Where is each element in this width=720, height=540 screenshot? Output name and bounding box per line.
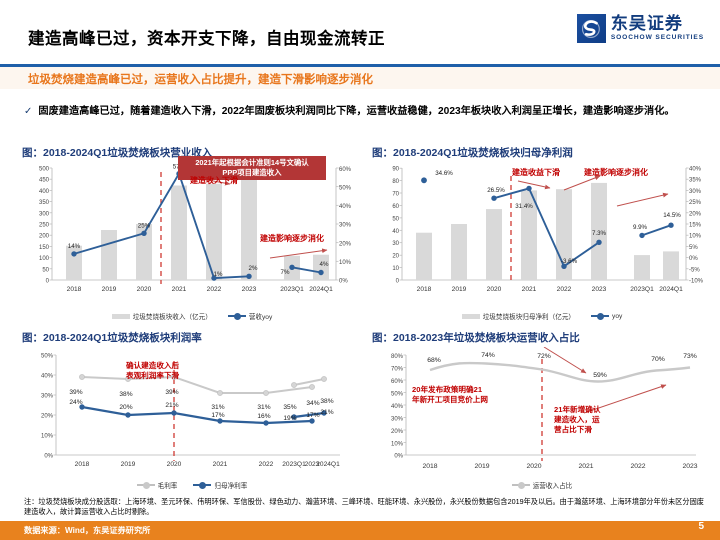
- svg-text:90: 90: [392, 167, 399, 173]
- svg-text:2018: 2018: [422, 463, 437, 470]
- svg-text:20: 20: [392, 254, 399, 260]
- svg-text:2023Q1: 2023Q1: [630, 286, 654, 293]
- annotation-policy-2020: 20年发布政策明确21 年新开工项目竞价上网: [412, 385, 488, 405]
- slide-root: 建造高峰已过，资本开支下降，自由现金流转正 东吴证券 SOOCHOW SECUR…: [0, 0, 720, 540]
- svg-text:-5%: -5%: [689, 267, 700, 273]
- svg-text:10%: 10%: [339, 260, 352, 266]
- svg-text:50%: 50%: [391, 392, 404, 398]
- annotation-revenue-decline: 建造收入下滑: [190, 176, 238, 186]
- svg-text:25%: 25%: [138, 223, 151, 230]
- svg-text:60%: 60%: [391, 379, 404, 385]
- chart-panel-margin: 图：2018-2024Q1垃圾焚烧板块利润率 0%10% 20%30% 40%5…: [22, 330, 362, 495]
- soochow-logo-icon: [577, 14, 606, 43]
- svg-text:60: 60: [392, 204, 399, 210]
- svg-text:2018: 2018: [67, 286, 82, 293]
- svg-text:2023: 2023: [592, 286, 607, 293]
- svg-text:500: 500: [39, 167, 50, 173]
- svg-text:-3.6%: -3.6%: [561, 258, 578, 265]
- svg-text:50: 50: [42, 267, 49, 273]
- svg-text:2022: 2022: [557, 286, 572, 293]
- legend-item-gross-margin: 毛利率: [137, 480, 178, 490]
- company-logo: 东吴证券 SOOCHOW SECURITIES: [577, 14, 704, 43]
- svg-text:20%: 20%: [391, 429, 404, 435]
- logo-wordmark: 东吴证券 SOOCHOW SECURITIES: [611, 15, 704, 42]
- chart-panel-revenue: 图：2018-2024Q1垃圾焚烧板块营业收入 050 100150 20025…: [22, 145, 362, 325]
- svg-text:1%: 1%: [214, 271, 223, 278]
- svg-text:200: 200: [39, 234, 50, 240]
- section-heading: 垃圾焚烧建造高峰已过，运营收入占比提升，建造下滑影响逐步消化: [28, 71, 373, 87]
- legend-label-line: yoy: [612, 313, 622, 320]
- svg-text:2021: 2021: [172, 286, 187, 293]
- svg-text:25%: 25%: [689, 200, 702, 206]
- annotation-margin-decline: 确认建造收入后 表观利润率下滑: [126, 361, 179, 381]
- svg-text:2024Q1: 2024Q1: [316, 461, 340, 468]
- svg-text:30: 30: [392, 241, 399, 247]
- svg-text:2021: 2021: [578, 463, 593, 470]
- svg-text:-10%: -10%: [689, 279, 704, 285]
- svg-text:7.3%: 7.3%: [592, 230, 607, 237]
- svg-text:150: 150: [39, 245, 50, 251]
- svg-text:30%: 30%: [391, 417, 404, 423]
- chart-plot-revenue: 050 100150 200250 300350 400450 500: [22, 162, 362, 310]
- annotation-new-construction-2021: 21年新增确认 建造收入，运 营占比下滑: [554, 405, 600, 435]
- svg-text:50%: 50%: [41, 354, 54, 360]
- chart-plot-profit: 010 2030 4050 6070 8090 -10%-5% 0%5% 10: [372, 162, 712, 310]
- legend-line-swatch: [228, 315, 246, 317]
- chart-panel-opshare: 图：2018-2023年垃圾焚烧板块运营收入占比 0%10% 20%30% 40…: [372, 330, 712, 495]
- legend-blue-line-swatch: [193, 484, 211, 486]
- legend-item-opshare: 运营收入占比: [512, 480, 573, 490]
- svg-text:2023: 2023: [682, 463, 697, 470]
- svg-text:68%: 68%: [427, 357, 441, 364]
- legend-bar-swatch: [112, 314, 130, 319]
- svg-text:20%: 20%: [119, 404, 132, 411]
- svg-text:31%: 31%: [257, 404, 270, 411]
- legend-label-bar: 垃圾焚烧板块归母净利（亿元）: [483, 311, 575, 321]
- bullet-text: 固废建造高峰已过，随着建造收入下滑，2022年固废板块利润同比下降，运营收益稳健…: [38, 104, 674, 120]
- annotation-profit-absorbed: 建造影响逐步消化: [584, 168, 648, 178]
- legend-gray-line-swatch: [137, 484, 155, 486]
- svg-text:38%: 38%: [320, 398, 333, 405]
- page-title: 建造高峰已过，资本开支下降，自由现金流转正: [28, 25, 385, 49]
- svg-text:0%: 0%: [394, 454, 403, 460]
- svg-text:2020: 2020: [487, 286, 502, 293]
- svg-text:2023Q1: 2023Q1: [282, 461, 306, 468]
- chart-plot-margin: 0%10% 20%30% 40%50%: [22, 347, 362, 479]
- svg-text:14.5%: 14.5%: [663, 212, 681, 219]
- svg-text:2018: 2018: [417, 286, 432, 293]
- legend-item-line: yoy: [591, 313, 622, 320]
- logo-english-name: SOOCHOW SECURITIES: [611, 35, 704, 42]
- legend-line-swatch: [591, 315, 609, 317]
- svg-text:30%: 30%: [339, 223, 352, 229]
- svg-text:20%: 20%: [689, 211, 702, 217]
- svg-text:19%: 19%: [283, 415, 296, 422]
- svg-text:10%: 10%: [41, 434, 54, 440]
- svg-text:0: 0: [46, 279, 50, 285]
- svg-text:50: 50: [392, 216, 399, 222]
- svg-text:350: 350: [39, 200, 50, 206]
- svg-text:30%: 30%: [689, 189, 702, 195]
- svg-text:40%: 40%: [689, 167, 702, 173]
- legend-item-bar: 垃圾焚烧板块归母净利（亿元）: [462, 311, 575, 321]
- svg-text:35%: 35%: [689, 178, 702, 184]
- svg-text:60%: 60%: [339, 167, 352, 173]
- annotation-profit-decline: 建造收益下滑: [512, 168, 560, 178]
- svg-text:100: 100: [39, 256, 50, 262]
- svg-text:2022: 2022: [207, 286, 222, 293]
- chart-title-margin: 图：2018-2024Q1垃圾焚烧板块利润率: [22, 330, 362, 345]
- svg-text:70: 70: [392, 192, 399, 198]
- svg-text:38%: 38%: [119, 391, 132, 398]
- svg-text:39%: 39%: [165, 389, 178, 396]
- svg-text:2019: 2019: [452, 286, 467, 293]
- svg-text:0%: 0%: [44, 454, 53, 460]
- svg-text:7%: 7%: [281, 269, 290, 276]
- legend-gray-line-swatch: [512, 484, 530, 486]
- data-source-label: 数据来源：Wind，东吴证券研究所: [24, 524, 150, 536]
- annotation-impact-absorbed: 建造影响逐步消化: [260, 234, 324, 244]
- legend-label-line: 营收yoy: [249, 311, 272, 321]
- svg-text:5%: 5%: [689, 245, 698, 251]
- svg-text:2020: 2020: [167, 461, 182, 468]
- legend-label-gross-margin: 毛利率: [158, 480, 178, 490]
- chart-title-opshare: 图：2018-2023年垃圾焚烧板块运营收入占比: [372, 330, 712, 345]
- svg-text:9.9%: 9.9%: [633, 224, 648, 231]
- svg-text:24%: 24%: [69, 399, 82, 406]
- svg-text:2019: 2019: [121, 461, 136, 468]
- chart-panel-profit: 图：2018-2024Q1垃圾焚烧板块归母净利润 010 2030 4050 6…: [372, 145, 712, 325]
- svg-text:17%: 17%: [211, 412, 224, 419]
- svg-text:35%: 35%: [283, 404, 296, 411]
- svg-text:10: 10: [392, 266, 399, 272]
- svg-text:21%: 21%: [320, 409, 333, 416]
- svg-text:0%: 0%: [339, 279, 348, 285]
- legend-item-bar: 垃圾焚烧板块收入（亿元）: [112, 311, 212, 321]
- svg-text:40%: 40%: [41, 374, 54, 380]
- svg-text:2%: 2%: [249, 265, 258, 272]
- svg-text:59%: 59%: [593, 372, 607, 379]
- chart-plot-opshare: 0%10% 20%30% 40%50% 60%70% 80% 6: [372, 347, 712, 479]
- legend-label-opshare: 运营收入占比: [533, 480, 573, 490]
- legend-label-bar: 垃圾焚烧板块收入（亿元）: [133, 311, 212, 321]
- svg-text:2022: 2022: [259, 461, 274, 468]
- svg-text:2022: 2022: [630, 463, 645, 470]
- logo-chinese-name: 东吴证券: [611, 15, 704, 32]
- svg-text:10%: 10%: [689, 234, 702, 240]
- svg-text:21%: 21%: [165, 402, 178, 409]
- svg-text:73%: 73%: [683, 353, 697, 360]
- svg-text:30%: 30%: [41, 394, 54, 400]
- chart-legend-margin: 毛利率 归母净利率: [22, 480, 362, 490]
- svg-text:40%: 40%: [339, 204, 352, 210]
- checkmark-icon: ✓: [24, 104, 32, 120]
- svg-text:14%: 14%: [68, 243, 81, 250]
- svg-text:31%: 31%: [211, 404, 224, 411]
- svg-text:80%: 80%: [391, 354, 404, 360]
- svg-text:34%: 34%: [306, 400, 319, 407]
- svg-text:2024Q1: 2024Q1: [659, 286, 683, 293]
- footnote-text: 注：垃圾焚烧板块成分股选取：上海环境、圣元环保、伟明环保、军信股份、绿色动力、瀚…: [24, 497, 704, 518]
- svg-text:0: 0: [396, 279, 400, 285]
- legend-item-net-margin: 归母净利率: [193, 480, 247, 490]
- svg-text:72%: 72%: [537, 353, 551, 360]
- svg-text:40: 40: [392, 229, 399, 235]
- svg-text:400: 400: [39, 189, 50, 195]
- svg-text:300: 300: [39, 211, 50, 217]
- svg-text:80: 80: [392, 179, 399, 185]
- svg-text:450: 450: [39, 178, 50, 184]
- svg-text:2019: 2019: [102, 286, 117, 293]
- svg-text:31.4%: 31.4%: [515, 203, 533, 210]
- svg-text:0%: 0%: [689, 256, 698, 262]
- svg-text:2019: 2019: [474, 463, 489, 470]
- slide-header: 建造高峰已过，资本开支下降，自由现金流转正 东吴证券 SOOCHOW SECUR…: [0, 0, 720, 66]
- svg-text:20%: 20%: [41, 414, 54, 420]
- svg-text:16%: 16%: [257, 413, 270, 420]
- chart-legend-revenue: 垃圾焚烧板块收入（亿元） 营收yoy: [22, 311, 362, 321]
- svg-text:2021: 2021: [522, 286, 537, 293]
- svg-text:34.6%: 34.6%: [435, 170, 453, 177]
- svg-text:20%: 20%: [339, 241, 352, 247]
- svg-text:50%: 50%: [339, 186, 352, 192]
- svg-text:250: 250: [39, 223, 50, 229]
- svg-text:2024Q1: 2024Q1: [309, 286, 333, 293]
- svg-text:2018: 2018: [75, 461, 90, 468]
- svg-text:2020: 2020: [137, 286, 152, 293]
- svg-text:74%: 74%: [481, 352, 495, 359]
- chart-title-profit: 图：2018-2024Q1垃圾焚烧板块归母净利润: [372, 145, 712, 160]
- chart-legend-profit: 垃圾焚烧板块归母净利（亿元） yoy: [372, 311, 712, 321]
- legend-item-line: 营收yoy: [228, 311, 272, 321]
- legend-label-net-margin: 归母净利率: [214, 480, 247, 490]
- svg-text:70%: 70%: [651, 356, 665, 363]
- chart-legend-opshare: 运营收入占比: [372, 480, 712, 490]
- legend-bar-swatch: [462, 314, 480, 319]
- svg-text:2023Q1: 2023Q1: [280, 286, 304, 293]
- svg-text:4%: 4%: [320, 261, 329, 268]
- svg-text:39%: 39%: [69, 389, 82, 396]
- svg-text:2021: 2021: [213, 461, 228, 468]
- page-number: 5: [698, 521, 704, 532]
- svg-text:2023: 2023: [242, 286, 257, 293]
- svg-text:2020: 2020: [526, 463, 541, 470]
- bullet-paragraph: ✓ 固废建造高峰已过，随着建造收入下滑，2022年固废板块利润同比下降，运营收益…: [24, 104, 702, 120]
- svg-text:10%: 10%: [391, 442, 404, 448]
- svg-text:70%: 70%: [391, 367, 404, 373]
- svg-text:26.5%: 26.5%: [487, 187, 505, 194]
- svg-text:40%: 40%: [391, 404, 404, 410]
- svg-text:17%: 17%: [306, 412, 319, 419]
- svg-text:15%: 15%: [689, 223, 702, 229]
